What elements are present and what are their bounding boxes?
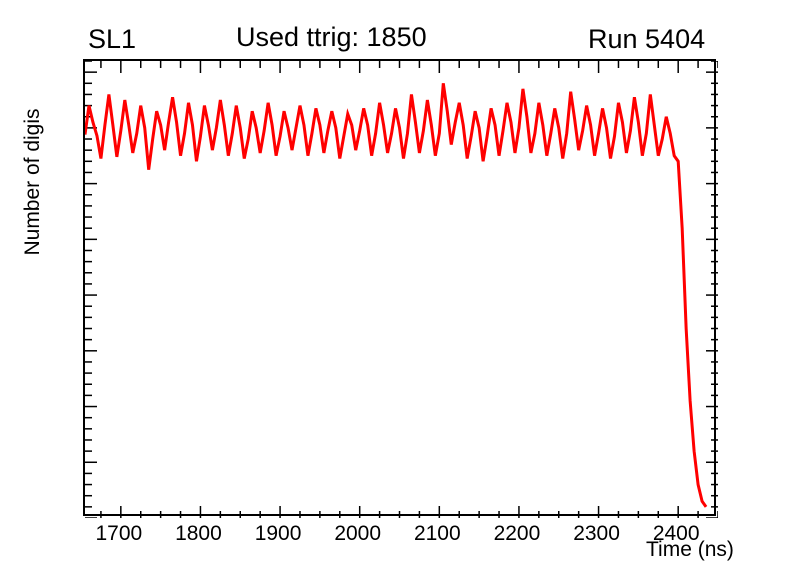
x-tick-label: 2000 <box>318 522 398 546</box>
data-series-line <box>85 83 706 507</box>
x-tick-label: 2200 <box>477 522 557 546</box>
x-tick-label: 2100 <box>397 522 477 546</box>
plot-frame <box>83 59 716 516</box>
x-tick-label: 1900 <box>238 522 318 546</box>
x-tick-label: 1800 <box>158 522 238 546</box>
x-tick-label: 2400 <box>636 522 716 546</box>
x-tick-label: 2300 <box>557 522 637 546</box>
plot-area <box>85 61 718 518</box>
x-tick-label: 1700 <box>79 522 159 546</box>
chart-canvas: SL1 Used ttrig: 1850 Run 5404 Number of … <box>0 0 796 572</box>
